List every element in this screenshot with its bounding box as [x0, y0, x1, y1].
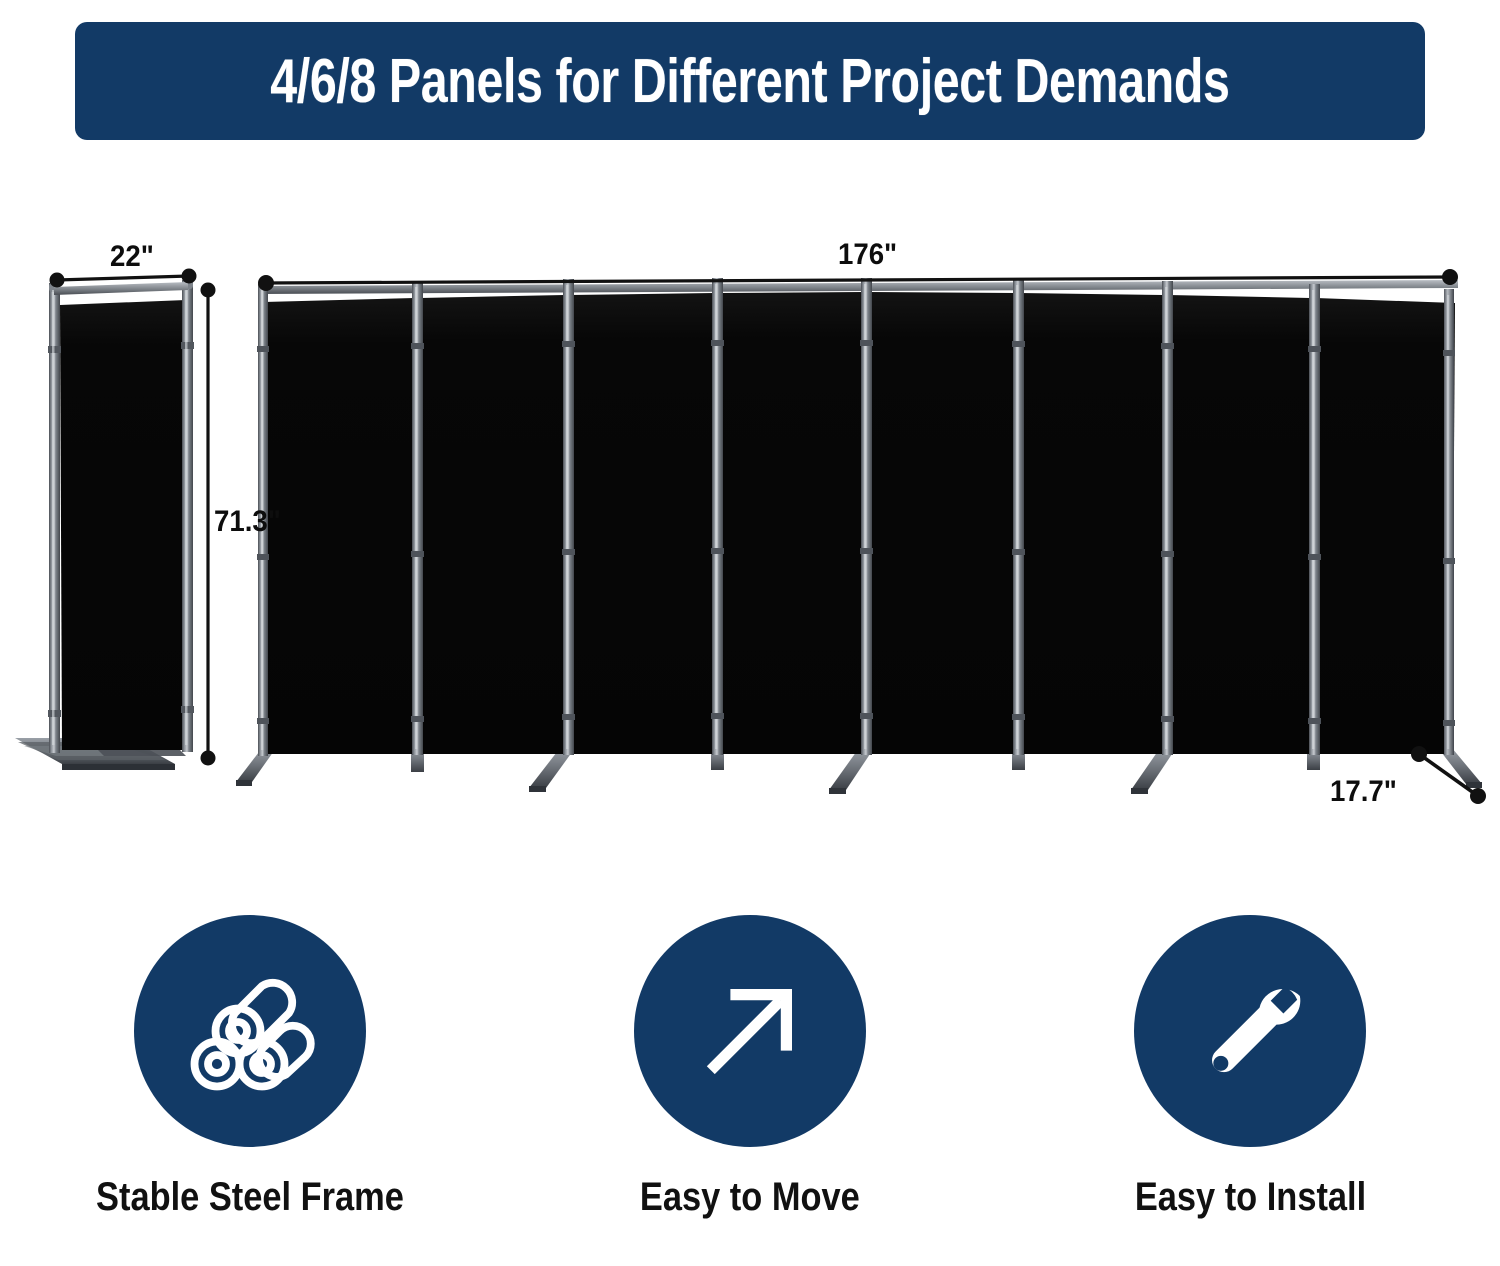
eight-panel-unit — [236, 278, 1482, 794]
wrench-screwdriver-icon — [1175, 956, 1325, 1106]
panel-fabric — [1020, 293, 1163, 754]
arrow-up-right-icon — [680, 961, 820, 1101]
panel-fabric — [570, 293, 714, 754]
panel-fabric — [420, 295, 564, 754]
feature-easy-to-move: Easy to Move — [500, 915, 1000, 1265]
dimension-label-width-total: 176" — [838, 238, 897, 272]
panel-fabric — [720, 292, 862, 754]
banner-title: 4/6/8 Panels for Different Project Deman… — [270, 46, 1229, 117]
panel-fabric — [1316, 298, 1455, 754]
single-panel-unit — [15, 280, 194, 770]
features-row: Stable Steel Frame Easy to Move — [0, 915, 1500, 1265]
divider-post — [562, 279, 575, 755]
feature-caption: Easy to Move — [640, 1175, 860, 1220]
divider-post — [711, 278, 724, 755]
single-panel-top-rail — [54, 282, 188, 295]
single-panel-post-right — [181, 280, 194, 752]
single-panel-fabric — [60, 300, 190, 750]
header-banner: 4/6/8 Panels for Different Project Deman… — [75, 22, 1425, 140]
divider-post — [1012, 279, 1025, 755]
dimension-label-depth-foot: 17.7" — [1330, 775, 1397, 809]
panel-fabric — [1169, 295, 1310, 754]
feature-icon-badge — [634, 915, 866, 1147]
divider-post — [860, 278, 873, 755]
panel-fabric — [868, 292, 1014, 754]
feature-easy-to-install: Easy to Install — [1000, 915, 1500, 1265]
single-panel-post-left — [48, 283, 61, 753]
steel-tubes-icon — [175, 956, 325, 1106]
dimension-label-width-single: 22" — [110, 240, 154, 274]
feature-icon-badge — [1134, 915, 1366, 1147]
infographic-page: 4/6/8 Panels for Different Project Deman… — [0, 0, 1500, 1266]
panel-fabric — [264, 298, 414, 754]
feature-icon-badge — [134, 915, 366, 1147]
product-illustration: 22" 71.3" 176" 17.7" — [0, 150, 1500, 910]
divider-post — [1161, 281, 1174, 755]
feature-caption: Stable Steel Frame — [96, 1175, 404, 1220]
feature-caption: Easy to Install — [1134, 1175, 1365, 1220]
divider-post — [1443, 289, 1455, 755]
feature-stable-steel-frame: Stable Steel Frame — [0, 915, 500, 1265]
divider-post — [411, 281, 424, 755]
divider-post — [1308, 284, 1321, 755]
dimension-label-height: 71.3" — [214, 505, 281, 539]
